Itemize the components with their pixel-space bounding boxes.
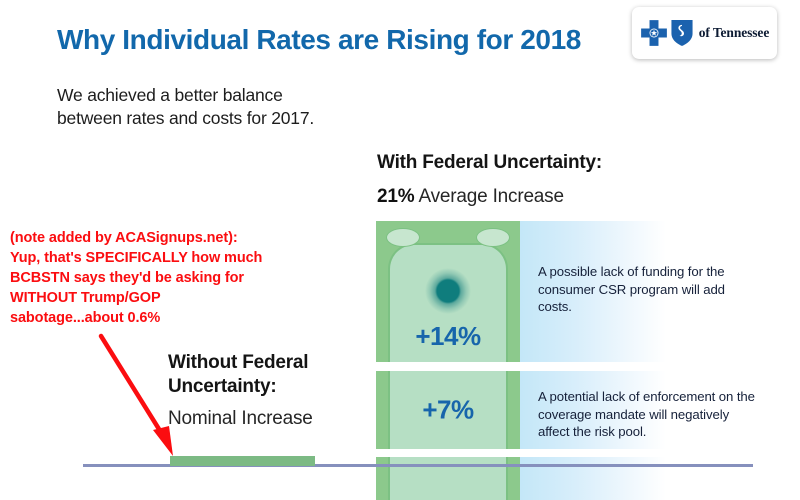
- factor-note: A potential lack of enforcement on the c…: [538, 388, 758, 441]
- with-federal-uncertainty-average: 21% Average Increase: [377, 186, 564, 208]
- money-bill-oval-left: [386, 228, 420, 247]
- without-federal-uncertainty-heading: Without Federal Uncertainty:: [168, 351, 368, 399]
- blue-cross-icon: [640, 19, 668, 47]
- page-subtitle: We achieved a better balance between rat…: [57, 84, 314, 130]
- acasignups-annotation-text: (note added by ACASignups.net): Yup, tha…: [10, 228, 360, 328]
- average-increase-label: Average Increase: [414, 186, 563, 207]
- money-bill-oval-right: [476, 228, 510, 247]
- bcbs-tennessee-logo-card: of Tennessee: [632, 7, 777, 59]
- page-title: Why Individual Rates are Rising for 2018: [57, 24, 581, 56]
- factor-value: +14%: [376, 321, 520, 352]
- factor-row: +14% A possible lack of funding for the …: [376, 221, 800, 362]
- money-bill-graphic: +7%: [376, 371, 520, 449]
- logo-text: of Tennessee: [699, 25, 769, 41]
- without-federal-uncertainty-subtext: Nominal Increase: [168, 408, 313, 430]
- with-federal-uncertainty-heading: With Federal Uncertainty:: [377, 152, 602, 174]
- logo-marks: [640, 18, 694, 48]
- factor-row: +7% A potential lack of enforcement on t…: [376, 371, 800, 449]
- blue-shield-icon: [670, 18, 694, 48]
- nominal-increase-bar: [170, 456, 315, 466]
- average-increase-percent: 21%: [377, 186, 414, 207]
- slide-canvas: of Tennessee Why Individual Rates are Ri…: [0, 0, 800, 500]
- money-bill-graphic: +14%: [376, 221, 520, 362]
- factor-value: +7%: [376, 395, 520, 426]
- money-seal-icon: [425, 268, 471, 314]
- factor-note: A possible lack of funding for the consu…: [538, 263, 758, 316]
